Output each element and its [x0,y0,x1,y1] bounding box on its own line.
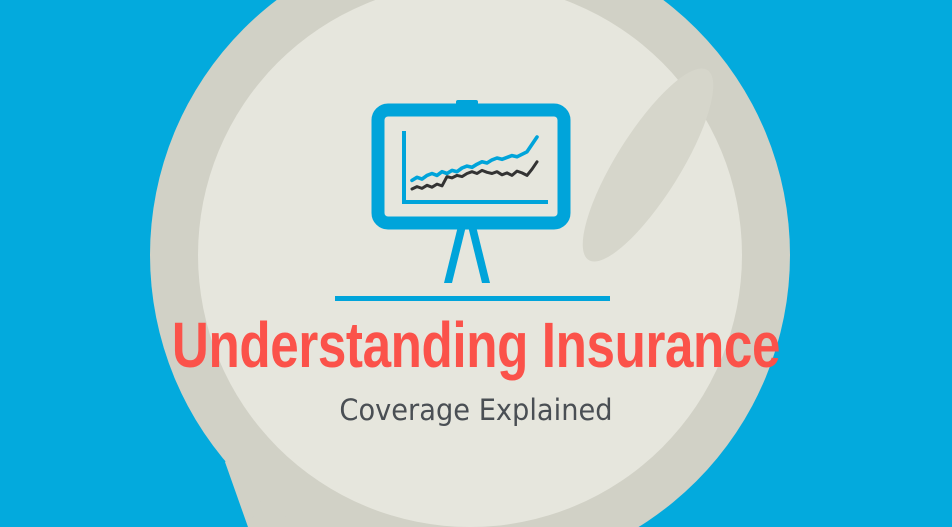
illustration-artboard [0,0,952,527]
title-card: Understanding Insurance Coverage Explain… [0,0,952,527]
magnifier-lens-glass [198,0,742,527]
divider-rule [335,296,610,301]
